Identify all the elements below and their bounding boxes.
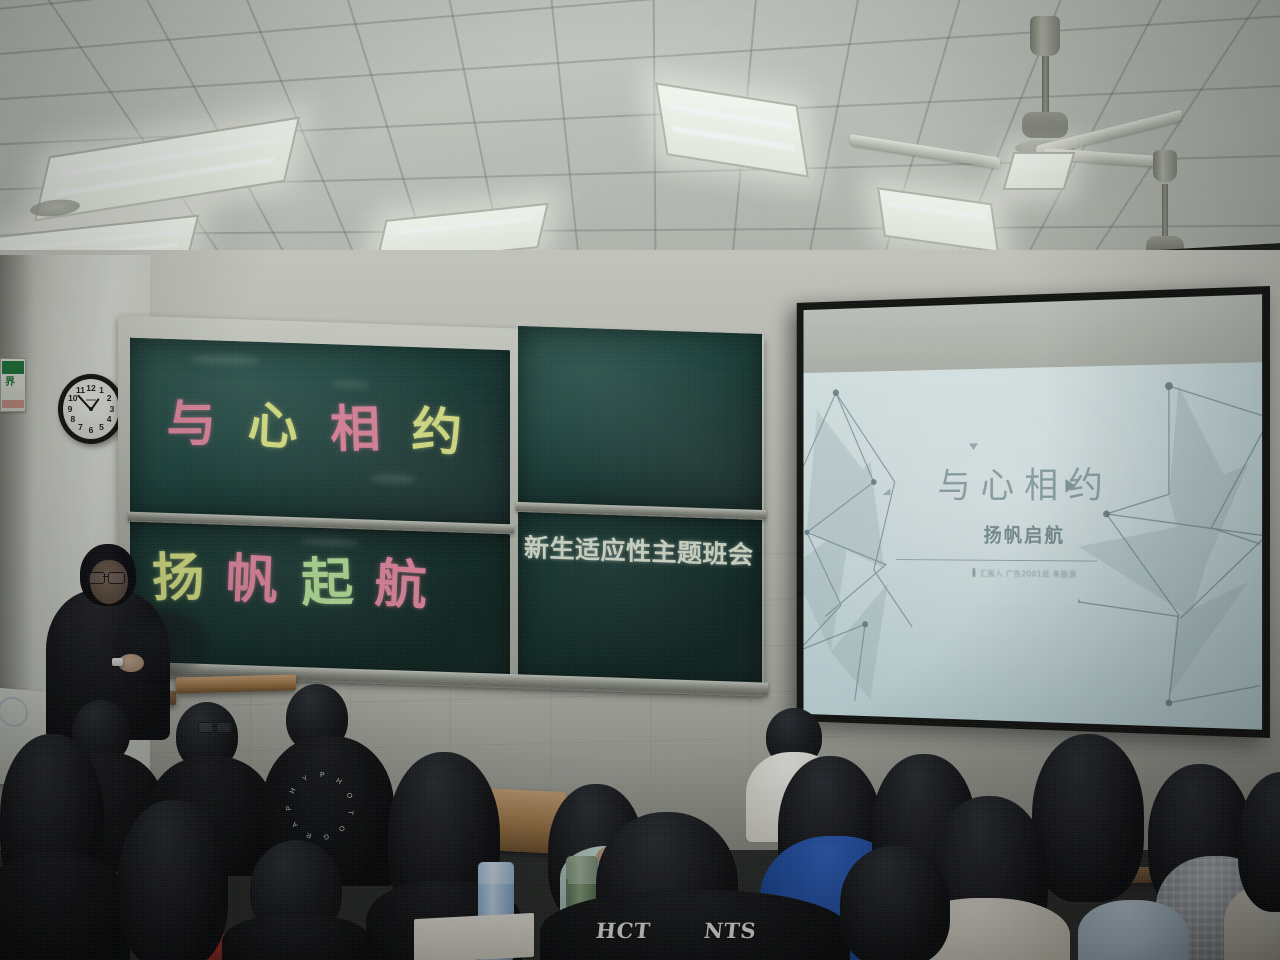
slide-title-char: 与 — [938, 465, 981, 506]
audience-glasses-wearer — [188, 714, 258, 754]
lamp-tube — [672, 126, 795, 151]
ceiling-tile-seam — [0, 0, 1280, 16]
blackboard-panel-right-upper[interactable] — [518, 326, 762, 512]
fan-motor — [1022, 112, 1068, 138]
print-char: H — [335, 777, 343, 786]
audience-shoulders — [222, 914, 372, 960]
chalk-char: 起 — [299, 540, 362, 615]
fan-light-kit — [1003, 152, 1076, 190]
print-char: O — [337, 824, 346, 833]
slide-title-char: 约 — [1068, 464, 1113, 506]
projected-slide: 与心相约 扬帆启航 汇报人 广告2001班 朱振源 — [803, 362, 1262, 730]
credit-text: 汇报人 广告2001班 朱振源 — [980, 569, 1077, 579]
clock-numeral: 11 — [76, 386, 86, 395]
slide-title: 与心相约 — [803, 454, 1262, 508]
audience-shoulders — [0, 852, 130, 960]
slide-subtitle: 扬帆启航 — [803, 519, 1262, 549]
presenter-glasses-left-lens — [88, 572, 105, 584]
blackboard-topic-line: 新生适应性主题班会 — [524, 528, 754, 572]
clock-center-pin — [89, 407, 93, 411]
clock-face: 121234567891011 — [63, 379, 119, 439]
chalk-char: 约 — [411, 390, 472, 466]
hoodie-circle-print: PHOTOGRAPHY — [282, 768, 358, 844]
blackboard-panel-right-lower[interactable]: 新生适应性主题班会 — [518, 512, 762, 688]
chalk-char: 心 — [247, 385, 308, 461]
chalk-char: 帆 — [225, 536, 288, 615]
presenter-glasses-right-lens — [108, 572, 125, 584]
paper-on-desk — [414, 913, 534, 960]
foreground-audience-hair — [840, 846, 950, 960]
slide-triangle-ornament-top — [969, 443, 978, 450]
bottle-cap — [568, 862, 598, 884]
chalk-piece — [112, 658, 123, 666]
wall-clock: 121234567891011 — [58, 374, 124, 444]
print-char: R — [306, 830, 313, 838]
fan-downrod — [1162, 184, 1168, 240]
audience-long-hair — [1032, 734, 1144, 902]
wall-notice-sign: 界 — [0, 358, 26, 412]
sign-glyph: 界 — [5, 378, 15, 388]
fan-downrod — [1042, 56, 1049, 118]
jacket-text-left: HCT — [595, 918, 652, 943]
chalk-smudge — [330, 380, 370, 388]
clock-numeral: 2 — [104, 394, 114, 403]
foreground-jacket — [540, 890, 850, 960]
glasses-right-lens — [216, 722, 232, 733]
print-char: P — [286, 805, 294, 811]
print-char: Y — [302, 775, 310, 783]
lamp-tube — [669, 104, 792, 129]
glasses-bridge — [211, 726, 217, 727]
clock-numeral: 12 — [86, 384, 96, 393]
clock-numeral: 9 — [65, 405, 75, 414]
print-char: P — [320, 772, 325, 779]
chalk-smudge — [190, 354, 260, 366]
clock-numeral: 3 — [107, 405, 117, 414]
classroom-photo: 界 121234567891011 与心相约 扬帆起航 新生适应性主题班会 — [0, 0, 1280, 960]
print-char: O — [345, 792, 354, 800]
credit-tick-mark — [973, 568, 976, 577]
chalk-smudge — [370, 474, 416, 485]
sign-green-bar — [2, 361, 24, 374]
lamp-tube — [393, 217, 534, 235]
print-char: A — [291, 820, 299, 828]
blackboard-subtitle-line: 扬帆起航 — [152, 534, 449, 619]
podium-emblem — [0, 696, 28, 729]
clock-numeral: 10 — [68, 394, 78, 403]
slide-title-char: 相 — [1024, 465, 1068, 507]
clock-numeral: 5 — [97, 423, 107, 432]
clock-numeral: 7 — [76, 423, 86, 432]
presenter — [40, 536, 190, 716]
blackboard-panel-left-upper[interactable]: 与心相约 — [130, 338, 510, 527]
glasses-left-lens — [198, 722, 214, 733]
chalk-char: 相 — [329, 389, 390, 461]
sign-red-strip — [2, 400, 24, 408]
projection-screen[interactable]: 与心相约 扬帆启航 汇报人 广告2001班 朱振源 — [797, 286, 1270, 738]
teacher-desk — [176, 674, 296, 693]
bottle-cap — [478, 862, 514, 884]
audience-long-hair — [118, 800, 228, 960]
audience-shoulders-lightblue — [1078, 900, 1188, 960]
fan-mount — [1153, 150, 1177, 182]
jacket-text-right: NTS — [703, 918, 758, 943]
fan-mount — [1030, 16, 1060, 56]
ceiling-fan-1 — [990, 22, 1100, 152]
print-char: G — [322, 832, 329, 840]
slide-title-char: 心 — [981, 465, 1025, 506]
print-char: T — [346, 810, 354, 815]
clock-numeral: 8 — [68, 415, 78, 424]
presenter-glasses-bridge — [103, 576, 108, 577]
clock-numeral: 6 — [86, 426, 96, 435]
lamp-tube — [888, 202, 986, 220]
blackboard-title-line: 与心相约 — [166, 383, 494, 466]
print-char: H — [289, 787, 297, 795]
chalk-char: 与 — [165, 384, 226, 456]
chalk-char: 航 — [374, 541, 437, 620]
